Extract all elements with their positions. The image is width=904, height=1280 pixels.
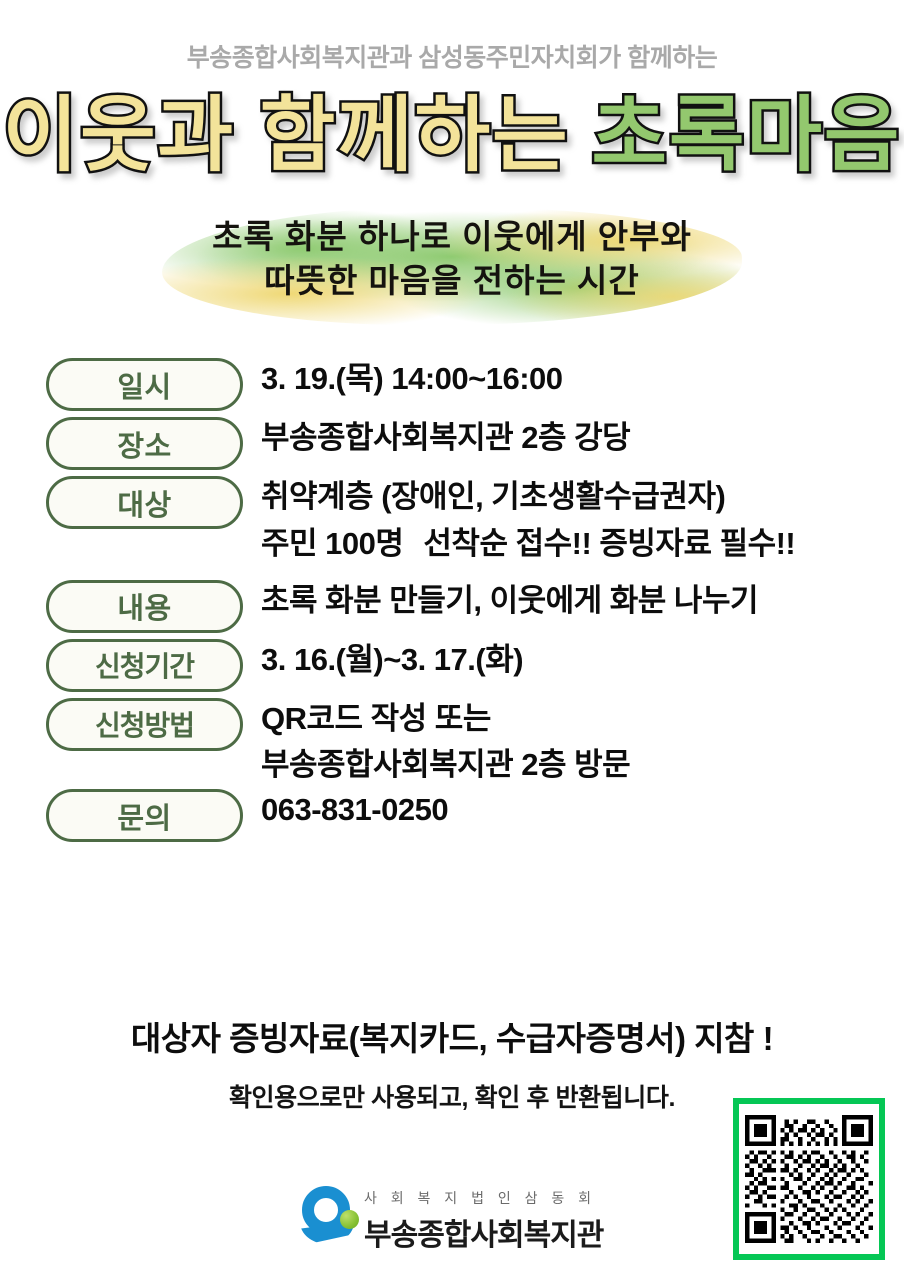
info-values-sincheong-gigan: 3. 16.(월)~3. 17.(화) bbox=[243, 639, 876, 682]
info-value-text: 3. 19.(목) 14:00~16:00 bbox=[261, 358, 876, 401]
info-values-sincheong-bangbeop: QR코드 작성 또는 부송종합사회복지관 2층 방문 bbox=[243, 698, 876, 788]
info-row-sincheong-gigan: 신청기간 3. 16.(월)~3. 17.(화) bbox=[46, 639, 876, 692]
info-values-daesang: 취약계층 (장애인, 기초생활수급권자) 주민 100명선착순 접수!! 증빙자… bbox=[243, 476, 876, 566]
poster-root: 부송종합사회복지관과 삼성동주민자치회가 함께하는 이웃과 함께하는초록마음 초… bbox=[0, 0, 904, 1280]
pill-label-sincheong-gigan: 신청기간 bbox=[46, 639, 243, 692]
info-value-text: 주민 100명 bbox=[261, 526, 403, 561]
info-row-munui: 문의 063-831-0250 bbox=[46, 789, 876, 842]
subtitle-line-2: 따뜻한 마음을 전하는 시간 bbox=[0, 259, 904, 303]
pill-label-jangso: 장소 bbox=[46, 417, 243, 470]
info-value-text: 부송종합사회복지관 2층 방문 bbox=[261, 744, 876, 787]
info-table: 일시 3. 19.(목) 14:00~16:00 장소 부송종합사회복지관 2층… bbox=[46, 358, 876, 848]
organization-logo: 사 회 복 지 법 인 삼 동 회 부송종합사회복지관 bbox=[300, 1186, 603, 1254]
footer-notice-text: 대상자 증빙자료(복지카드, 수급자증명서) 지참 ! bbox=[117, 1012, 787, 1060]
title-part-two: 초록마음 bbox=[592, 88, 902, 185]
info-value-text: 3. 16.(월)~3. 17.(화) bbox=[261, 639, 876, 682]
qr-code-image bbox=[745, 1110, 873, 1248]
info-values-ilsi: 3. 19.(목) 14:00~16:00 bbox=[243, 358, 876, 401]
footer-notice: 대상자 증빙자료(복지카드, 수급자증명서) 지참 ! bbox=[0, 1012, 904, 1060]
pill-label-ilsi: 일시 bbox=[46, 358, 243, 411]
logo-ring-icon bbox=[300, 1186, 356, 1246]
kicker-text: 부송종합사회복지관과 삼성동주민자치회가 함께하는 bbox=[0, 38, 904, 74]
logo-text-block: 사 회 복 지 법 인 삼 동 회 부송종합사회복지관 bbox=[356, 1186, 603, 1254]
pill-label-sincheong-bangbeop: 신청방법 bbox=[46, 698, 243, 751]
info-value-text: 초록 화분 만들기, 이웃에게 화분 나누기 bbox=[261, 580, 876, 623]
qr-code[interactable] bbox=[733, 1098, 885, 1260]
info-values-jangso: 부송종합사회복지관 2층 강당 bbox=[243, 417, 876, 460]
subtitle-block: 초록 화분 하나로 이웃에게 안부와 따뜻한 마음을 전하는 시간 bbox=[0, 215, 904, 303]
info-value-text: 취약계층 (장애인, 기초생활수급권자) bbox=[261, 476, 876, 519]
highlight-badge-first-come: 선착순 접수!! 증빙자료 필수!! bbox=[419, 523, 799, 566]
info-value-text: 부송종합사회복지관 2층 강당 bbox=[261, 417, 876, 460]
info-values-naeyong: 초록 화분 만들기, 이웃에게 화분 나누기 bbox=[243, 580, 876, 623]
title-part-one: 이웃과 함께하는 bbox=[3, 88, 570, 185]
logo-green-dot-icon bbox=[340, 1210, 359, 1229]
pill-label-daesang: 대상 bbox=[46, 476, 243, 529]
info-values-munui: 063-831-0250 bbox=[243, 789, 876, 832]
info-row-sincheong-bangbeop: 신청방법 QR코드 작성 또는 부송종합사회복지관 2층 방문 bbox=[46, 698, 876, 788]
main-title: 이웃과 함께하는초록마음 bbox=[0, 88, 904, 185]
pill-label-munui: 문의 bbox=[46, 789, 243, 842]
info-value-row: 주민 100명선착순 접수!! 증빙자료 필수!! bbox=[261, 523, 876, 566]
info-row-naeyong: 내용 초록 화분 만들기, 이웃에게 화분 나누기 bbox=[46, 580, 876, 633]
info-row-daesang: 대상 취약계층 (장애인, 기초생활수급권자) 주민 100명선착순 접수!! … bbox=[46, 476, 876, 566]
info-row-ilsi: 일시 3. 19.(목) 14:00~16:00 bbox=[46, 358, 876, 411]
logo-corporation-line: 사 회 복 지 법 인 삼 동 회 bbox=[364, 1188, 603, 1208]
info-value-text: QR코드 작성 또는 bbox=[261, 698, 876, 741]
subtitle-line-1: 초록 화분 하나로 이웃에게 안부와 bbox=[0, 215, 904, 259]
info-value-phone: 063-831-0250 bbox=[261, 789, 876, 832]
info-row-jangso: 장소 부송종합사회복지관 2층 강당 bbox=[46, 417, 876, 470]
pill-label-naeyong: 내용 bbox=[46, 580, 243, 633]
logo-center-name: 부송종합사회복지관 bbox=[364, 1210, 603, 1254]
